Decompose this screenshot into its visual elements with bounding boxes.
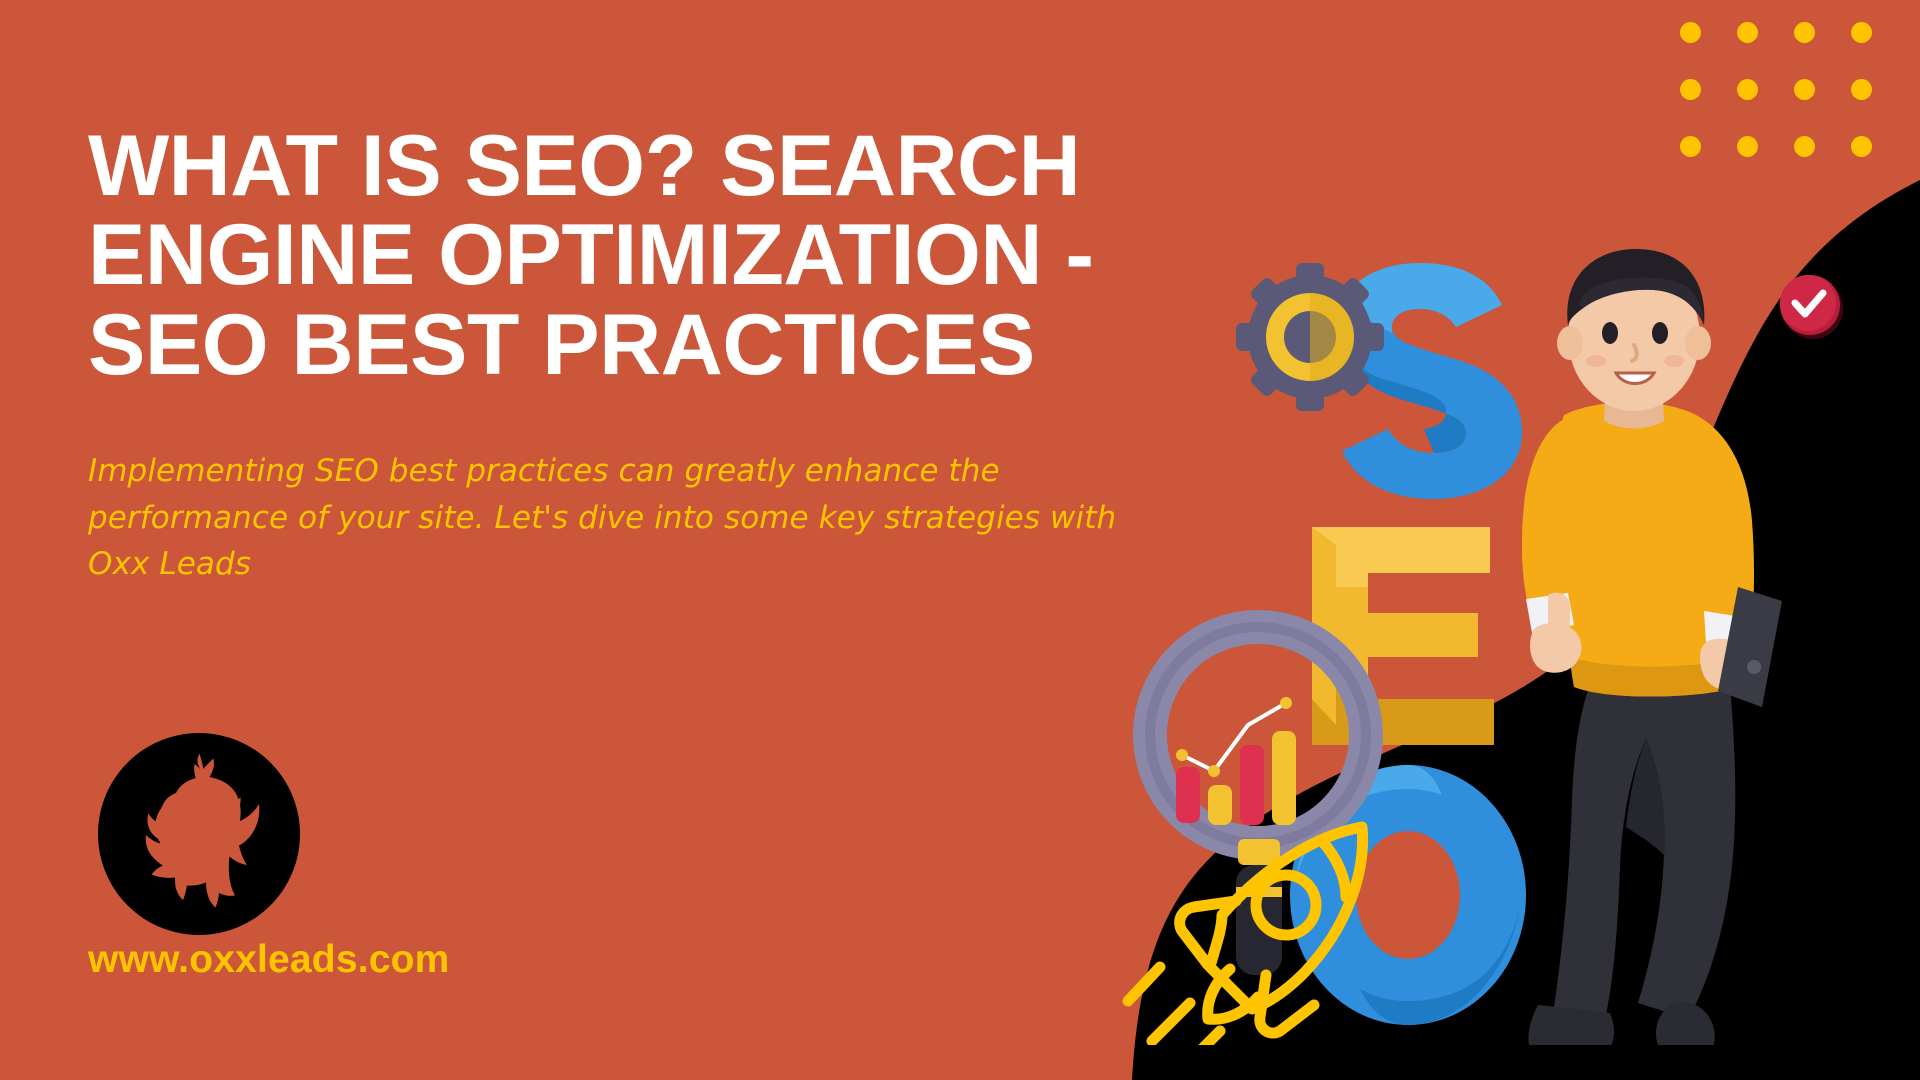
dot — [1794, 79, 1815, 100]
check-badge-icon — [1780, 275, 1843, 339]
letter-e-3d — [1312, 527, 1494, 745]
dot — [1851, 22, 1872, 43]
dot — [1680, 136, 1701, 157]
gear-icon — [1236, 263, 1384, 411]
seo-3d-illustration — [1090, 215, 1920, 1045]
brand-logo — [98, 733, 300, 935]
subtitle-text: Implementing SEO best practices can grea… — [88, 448, 1163, 588]
character-thumbs-up — [1522, 249, 1782, 1045]
bull-icon — [98, 733, 300, 935]
seo-banner: WHAT IS SEO? SEARCH ENGINE OPTIMIZATION … — [0, 0, 1920, 1080]
dot — [1794, 136, 1815, 157]
dot — [1680, 22, 1701, 43]
dot — [1851, 136, 1872, 157]
dot — [1794, 22, 1815, 43]
dot — [1851, 79, 1872, 100]
dot-grid — [1680, 22, 1920, 167]
dot — [1737, 22, 1758, 43]
bar-chart-icon — [1176, 697, 1296, 825]
dot — [1680, 79, 1701, 100]
website-url[interactable]: www.oxxleads.com — [88, 938, 450, 982]
page-title: WHAT IS SEO? SEARCH ENGINE OPTIMIZATION … — [88, 122, 1208, 390]
dot — [1737, 79, 1758, 100]
dot — [1737, 136, 1758, 157]
